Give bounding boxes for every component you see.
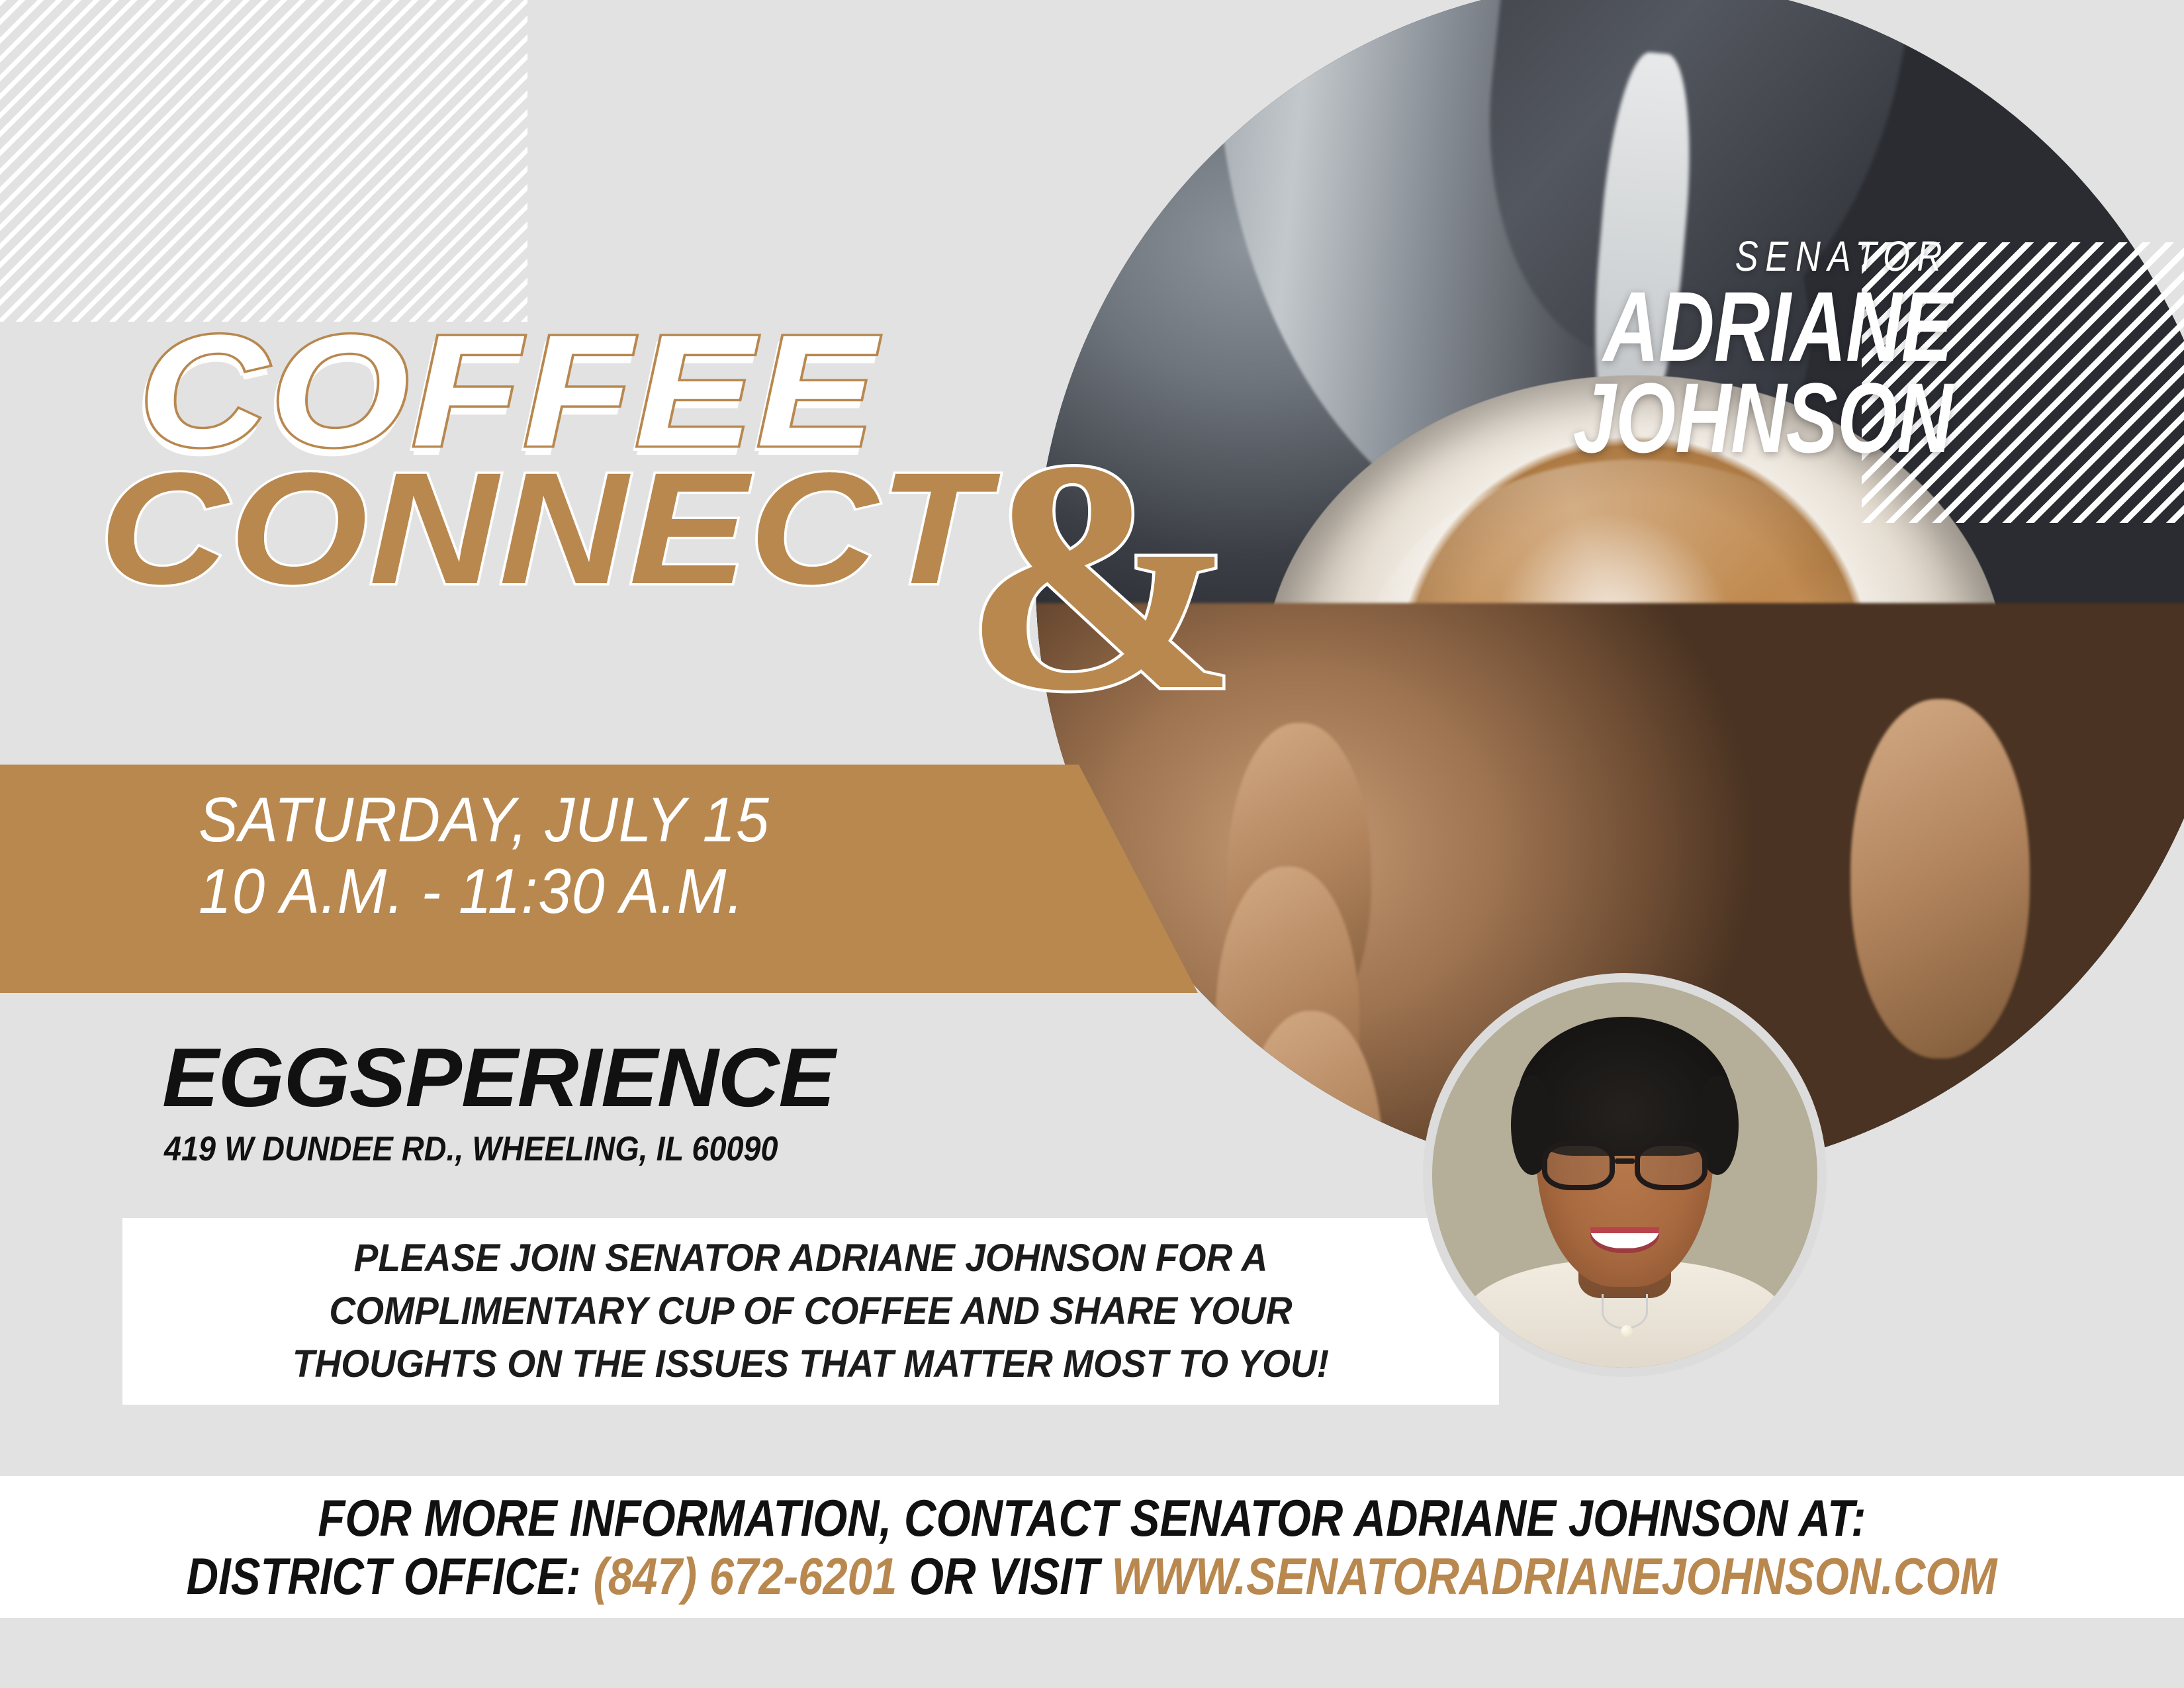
event-date: SATURDAY, JULY 15 xyxy=(199,784,770,856)
flyer-poster: SENATOR ADRIANE JOHNSON COFFEE COFFEE CO… xyxy=(0,0,2184,1688)
senator-last-name: JOHNSON xyxy=(1560,372,1952,463)
diagonal-stripes-decoration-top-left xyxy=(0,0,527,322)
senator-headshot-avatar xyxy=(1423,973,1827,1377)
footer-headline: FOR MORE INFORMATION, CONTACT SENATOR AD… xyxy=(318,1490,1866,1546)
headshot-image xyxy=(1432,982,1817,1368)
event-time: 10 A.M. - 11:30 A.M. xyxy=(199,856,770,927)
footer-phone-number[interactable]: (847) 672-6201 xyxy=(594,1547,897,1605)
description-line-2: COMPLIMENTARY CUP OF COFFEE AND SHARE YO… xyxy=(157,1285,1465,1338)
footer-contact-block: FOR MORE INFORMATION, CONTACT SENATOR AD… xyxy=(0,1476,2184,1618)
footer-office-label: DISTRICT OFFICE: xyxy=(187,1547,581,1605)
description-box: PLEASE JOIN SENATOR ADRIANE JOHNSON FOR … xyxy=(122,1218,1499,1405)
venue-name: EGGSPERIENCE xyxy=(162,1036,835,1119)
title-connect: CONNECT xyxy=(99,449,989,608)
date-time-text: SATURDAY, JULY 15 10 A.M. - 11:30 A.M. xyxy=(199,784,770,927)
event-title-lockup: COFFEE COFFEE CONNECT CONNECT & xyxy=(0,311,1257,708)
footer-connector-text: OR VISIT xyxy=(909,1547,1099,1605)
footer-website-link[interactable]: WWW.SENATORADRIANEJOHNSON.COM xyxy=(1112,1547,1997,1605)
description-text: PLEASE JOIN SENATOR ADRIANE JOHNSON FOR … xyxy=(157,1232,1465,1391)
venue-address: 419 W DUNDEE RD., WHEELING, IL 60090 xyxy=(164,1132,778,1166)
eyeglasses-icon xyxy=(1542,1141,1707,1191)
senator-first-name: ADRIANE xyxy=(1560,281,1952,372)
ampersand-glyph-outline: & xyxy=(963,410,1239,741)
description-line-1: PLEASE JOIN SENATOR ADRIANE JOHNSON FOR … xyxy=(157,1232,1465,1285)
description-line-3: THOUGHTS ON THE ISSUES THAT MATTER MOST … xyxy=(157,1338,1465,1391)
senator-name-block: SENATOR ADRIANE JOHNSON xyxy=(1449,232,1952,463)
footer-contact-line: DISTRICT OFFICE: (847) 672-6201 OR VISIT… xyxy=(187,1548,1997,1604)
bottom-gray-strip xyxy=(0,1618,2184,1688)
